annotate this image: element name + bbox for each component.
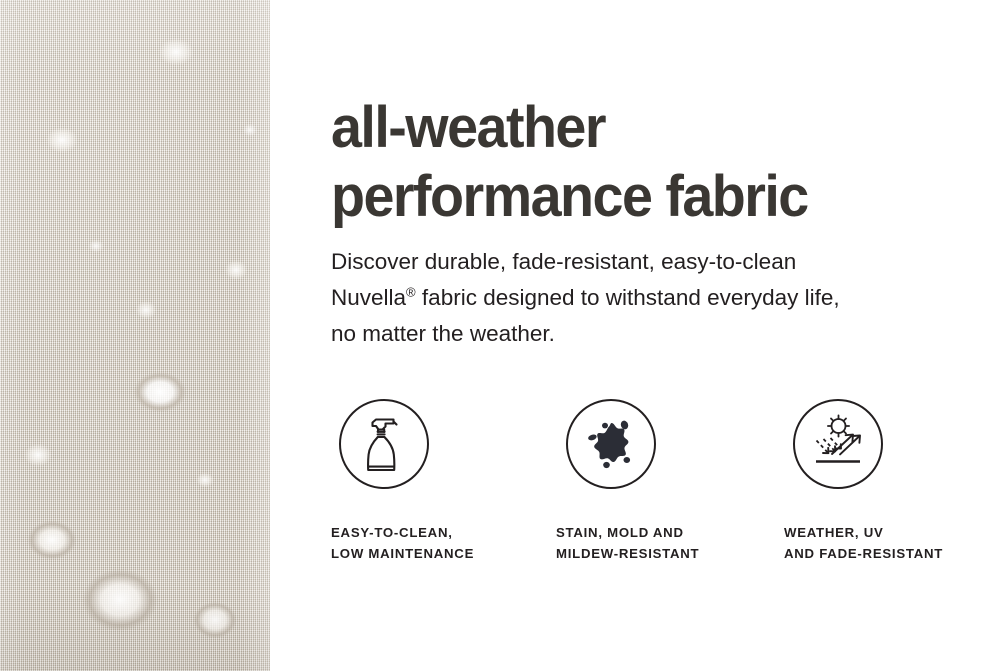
subcopy: Discover durable, fade-resistant, easy-t…	[331, 244, 971, 352]
subcopy-line-2: fabric designed to withstand everyday li…	[416, 285, 840, 310]
subcopy-brand: Nuvella	[331, 285, 406, 310]
subcopy-line-3: no matter the weather.	[331, 321, 555, 346]
content-panel: all-weather performance fabric Discover …	[331, 0, 991, 671]
fabric-photo	[0, 0, 270, 671]
feature-item-weather-uv: WEATHER, UV AND FADE-RESISTANT	[784, 398, 994, 564]
feature-caption: EASY-TO-CLEAN, LOW MAINTENANCE	[331, 522, 541, 564]
feature-item-stain-resistant: STAIN, MOLD AND MILDEW-RESISTANT	[556, 398, 766, 564]
stain-splat-icon	[565, 398, 657, 490]
sun-uv-reflect-icon	[792, 398, 884, 490]
photo-vignette	[0, 0, 270, 671]
page-title: all-weather performance fabric	[331, 93, 808, 231]
feature-item-easy-to-clean: EASY-TO-CLEAN, LOW MAINTENANCE	[331, 398, 541, 564]
spray-bottle-icon	[338, 398, 430, 490]
promo-banner: all-weather performance fabric Discover …	[0, 0, 1005, 671]
feature-list: EASY-TO-CLEAN, LOW MAINTENANCE	[331, 398, 991, 568]
feature-caption: WEATHER, UV AND FADE-RESISTANT	[784, 522, 994, 564]
registered-trademark-mark: ®	[406, 285, 416, 300]
subcopy-line-1: Discover durable, fade-resistant, easy-t…	[331, 249, 796, 274]
feature-caption: STAIN, MOLD AND MILDEW-RESISTANT	[556, 522, 766, 564]
